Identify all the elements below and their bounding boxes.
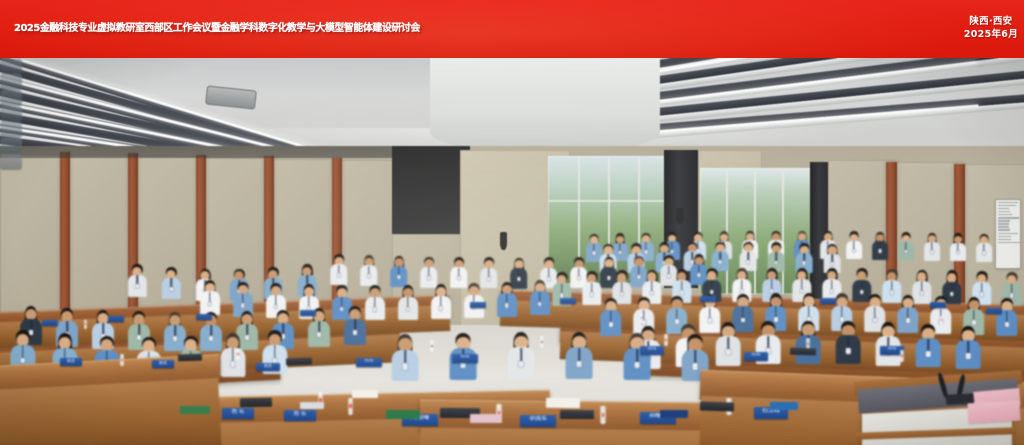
attendee-badge <box>878 249 881 253</box>
attendee-lanyard <box>637 349 639 362</box>
attendee-badge <box>846 348 850 354</box>
attendee-lanyard <box>775 306 777 317</box>
attendee-badge <box>241 303 245 308</box>
attendee-lanyard <box>643 310 645 321</box>
attendee-badge <box>644 250 647 254</box>
attendee-lanyard <box>274 345 276 357</box>
laptop-6 <box>790 348 816 356</box>
notice-line-9 <box>998 229 1010 231</box>
placard-name: 姓名 <box>452 355 478 360</box>
attendee <box>836 321 861 364</box>
attendee-badge <box>367 274 370 278</box>
attendee-lanyard <box>136 275 138 284</box>
notice-line-10 <box>998 233 1018 235</box>
attendee-badge <box>972 320 976 325</box>
laptop-0 <box>240 398 272 408</box>
attendee-lanyard <box>861 280 863 290</box>
attendee-badge <box>609 322 613 327</box>
attendee-badge <box>852 249 855 253</box>
front-row-placard-3: 李国军 <box>520 415 556 427</box>
attendee-lanyard <box>30 319 32 330</box>
attendee-badge <box>650 291 654 295</box>
attendee-lanyard <box>668 266 670 275</box>
notice-line-0 <box>998 202 1018 204</box>
chair-6 <box>0 154 22 170</box>
attendee-badge <box>209 336 213 341</box>
placard-name: 姓 名 <box>222 409 254 415</box>
attendee-lanyard <box>1006 311 1008 322</box>
attendee <box>872 232 888 260</box>
attendee-lanyard <box>981 283 983 293</box>
attendee-lanyard <box>879 241 881 249</box>
attendee-badge <box>607 276 610 280</box>
attendee <box>330 254 348 285</box>
notice-line-7 <box>998 223 1009 225</box>
attendee-lanyard <box>209 292 211 302</box>
screenshot-root: 2025金融科技专业虚拟教研室西部区工作会议暨金融学科数字化教学与大模型智能体建… <box>0 0 1024 445</box>
attendee-badge <box>245 335 249 340</box>
attendee-lanyard <box>853 241 855 249</box>
attendee-badge <box>427 276 430 280</box>
chair-0 <box>0 58 22 74</box>
attendee-lanyard <box>742 307 744 318</box>
chair-4 <box>0 122 22 138</box>
rear-placard-4 <box>470 302 486 308</box>
attendee <box>162 267 180 299</box>
attendee-lanyard <box>374 297 376 307</box>
placard-name: 姓名 <box>356 359 382 364</box>
attendee-badge <box>719 260 722 264</box>
attendee-lanyard <box>983 244 985 252</box>
attendee-lanyard <box>275 295 277 305</box>
attendee-lanyard <box>832 254 834 262</box>
attendee <box>582 271 601 305</box>
attendee-lanyard <box>548 268 550 277</box>
window-transom <box>548 200 666 202</box>
notice-line-3 <box>998 211 1010 213</box>
attendee <box>390 256 408 287</box>
notice-line-4 <box>998 214 1012 216</box>
attendee-lanyard <box>973 310 975 321</box>
front-row-placard-1: 姓 名 <box>284 410 316 421</box>
attendee-lanyard <box>804 253 806 261</box>
attendee-lanyard <box>518 268 520 277</box>
attendee <box>220 333 245 377</box>
attendee-lanyard <box>874 307 876 318</box>
second-row-placard-2: 姓名 <box>256 363 280 371</box>
attendee <box>360 255 378 286</box>
wall-pilaster-0 <box>60 152 70 318</box>
attendee-lanyard <box>428 267 430 276</box>
attendee-badge <box>373 307 377 312</box>
attendee-badge <box>487 277 490 281</box>
attendee-badge <box>20 358 25 364</box>
notice-line-8 <box>998 226 1009 228</box>
attendee-lanyard <box>741 280 743 290</box>
attendee-lanyard <box>354 319 356 330</box>
banner-location: 陕西·西安 <box>964 16 1018 29</box>
attendee-badge <box>317 332 321 337</box>
wall-panel-1 <box>68 155 136 313</box>
attendee-lanyard <box>242 294 244 304</box>
rear-placard-9 <box>986 308 1002 314</box>
attendee-badge <box>618 251 621 255</box>
attendee-lanyard <box>698 265 700 274</box>
attendee-lanyard <box>841 306 843 317</box>
attendee-lanyard <box>306 275 308 284</box>
attendee-lanyard <box>957 243 959 251</box>
attendee-badge <box>1005 322 1009 327</box>
water-bottle-14 <box>940 316 943 325</box>
attendee-badge <box>337 273 340 277</box>
laptop-5 <box>286 358 312 366</box>
water-bottle-12 <box>84 320 87 329</box>
attendee-lanyard <box>341 297 343 307</box>
lectern-pink-paper-2 <box>968 401 1021 424</box>
folder-grey <box>300 402 324 409</box>
event-banner: 2025金融科技专业虚拟教研室西部区工作会议暨金融学科数字化教学与大模型智能体建… <box>0 0 1024 58</box>
attendee-badge <box>926 351 930 357</box>
attendee-lanyard <box>506 294 508 304</box>
attendee-badge <box>173 336 177 341</box>
attendee <box>420 257 438 288</box>
second-row-placard-4: 姓名 <box>452 354 478 363</box>
attendee-badge <box>726 349 730 355</box>
banner-meta: 陕西·西安 2025年6月 <box>964 16 1018 42</box>
scene-layer: 姓 名姓 名刘晓曙李国军郑耀东石玉峰姓名姓名姓名姓名姓名姓名姓名姓名 <box>0 58 1024 170</box>
attendee-lanyard <box>651 281 653 291</box>
notice-line-5 <box>998 217 1019 219</box>
placard-name: 姓名 <box>152 361 174 365</box>
attendee-lanyard <box>808 306 810 317</box>
attendee-badge <box>560 293 564 297</box>
attendee-lanyard <box>591 283 593 293</box>
attendee-badge <box>708 318 712 323</box>
attendee-lanyard <box>1011 284 1013 294</box>
attendee-badge <box>403 363 408 369</box>
attendee-lanyard <box>608 267 610 276</box>
water-bottle-3 <box>600 406 606 424</box>
attendee-badge <box>966 353 970 359</box>
rear-placard-5 <box>560 298 576 304</box>
attendee-badge <box>577 276 580 280</box>
attendee <box>956 326 981 369</box>
attendee-badge <box>517 277 520 281</box>
water-bottle-1 <box>348 398 353 415</box>
attendee-lanyard <box>579 348 581 361</box>
attendee-lanyard <box>771 279 773 289</box>
attendee <box>624 333 651 380</box>
attendee <box>846 231 862 259</box>
attendee <box>716 322 741 365</box>
attendee-badge <box>906 318 910 323</box>
attendee-badge <box>406 307 410 312</box>
attendee-badge <box>860 290 864 294</box>
attendee-lanyard <box>170 278 172 287</box>
placard-name: 李国军 <box>520 416 556 423</box>
attendee-lanyard <box>521 348 523 361</box>
chair-1 <box>0 74 22 90</box>
attendee-badge <box>667 274 670 278</box>
attendee-lanyard <box>578 268 580 277</box>
attendee-badge <box>831 262 834 266</box>
attendee-lanyard <box>921 281 923 291</box>
attendee-lanyard <box>681 281 683 291</box>
attendee <box>344 306 366 345</box>
attendee-badge <box>904 250 907 254</box>
attendee-badge <box>208 302 212 307</box>
attendee <box>916 324 941 367</box>
attendee-lanyard <box>338 265 340 274</box>
water-bottle-6 <box>430 340 434 352</box>
water-bottle-7 <box>540 336 544 348</box>
attendee-lanyard <box>848 336 850 348</box>
attendee-lanyard <box>561 284 563 294</box>
attendee-lanyard <box>539 292 541 302</box>
attendee-badge <box>775 261 778 265</box>
banner-title: 2025金融科技专业虚拟教研室西部区工作会议暨金融学科数字化教学与大模型智能体建… <box>14 24 966 34</box>
placard-name: 姓名 <box>744 353 768 358</box>
attendee-lanyard <box>66 321 68 332</box>
rear-placard-7 <box>820 298 836 304</box>
attendee-badge <box>982 251 985 255</box>
chair-2 <box>0 90 22 106</box>
attendee-badge <box>519 361 524 367</box>
water-bottle-10 <box>120 354 124 366</box>
attendee-badge <box>538 302 542 307</box>
rear-placard-1 <box>108 316 124 322</box>
attendee-badge <box>697 273 700 277</box>
laptop-4 <box>178 354 202 362</box>
attendee-lanyard <box>801 279 803 289</box>
attendee-badge <box>747 260 750 264</box>
attendee-lanyard <box>931 242 933 250</box>
attendee-badge <box>956 251 959 255</box>
folder-green-center <box>386 410 420 419</box>
attendee <box>600 298 622 336</box>
attendee <box>365 285 385 320</box>
attendee-lanyard <box>905 242 907 250</box>
attendee-badge <box>680 290 684 294</box>
wall-sconce-right <box>676 208 684 224</box>
attendee <box>128 264 146 296</box>
attendee-lanyard <box>174 325 176 336</box>
front-row-placard-0: 姓 名 <box>222 408 254 419</box>
water-bottle-8 <box>664 334 668 346</box>
attendee-lanyard <box>368 266 370 275</box>
attendee-badge <box>890 290 894 294</box>
folder-blue-far-right <box>770 402 798 410</box>
attendee-lanyard <box>720 252 722 260</box>
placard-name: 姓名 <box>640 347 664 352</box>
chair-3 <box>0 106 22 122</box>
attendee-badge <box>803 261 806 265</box>
attendee-lanyard <box>593 244 595 252</box>
attendee <box>712 242 729 271</box>
attendee-badge <box>920 291 924 295</box>
attendee-lanyard <box>210 325 212 336</box>
second-row-placard-3: 姓名 <box>356 358 382 367</box>
attendee-lanyard <box>638 266 640 275</box>
attendee-lanyard <box>308 296 310 306</box>
attendee-badge <box>693 363 698 369</box>
attendee-lanyard <box>768 336 770 348</box>
attendee-badge <box>930 250 933 254</box>
attendee-lanyard <box>138 324 140 335</box>
attendee-lanyard <box>610 311 612 322</box>
rear-placard-0 <box>42 320 58 326</box>
notice-line-12 <box>998 239 1011 241</box>
attendee-lanyard <box>695 350 697 363</box>
paper-stack-left <box>352 390 378 398</box>
attendee <box>950 233 966 261</box>
water-bottle-11 <box>900 350 904 362</box>
attendee-lanyard <box>102 323 104 334</box>
attendee-badge <box>274 305 278 310</box>
attendee-lanyard <box>928 339 930 351</box>
attendee-badge <box>1010 293 1014 297</box>
attendee-badge <box>397 275 400 279</box>
rear-placard-8 <box>930 302 946 308</box>
attendee-badge <box>353 330 357 335</box>
attendee <box>392 334 419 381</box>
attendee-lanyard <box>621 282 623 292</box>
wall-notice-board <box>996 200 1020 268</box>
attendee-lanyard <box>776 252 778 260</box>
attendee-badge <box>577 361 582 367</box>
attendee-badge <box>637 275 640 279</box>
attendee-lanyard <box>728 337 730 349</box>
attendee <box>996 298 1018 336</box>
chair-5 <box>0 138 22 154</box>
notice-line-13 <box>998 242 1020 244</box>
attendee <box>876 322 901 365</box>
attendee-lanyard <box>318 321 320 332</box>
attendee-lanyard <box>891 281 893 291</box>
attendee-badge <box>710 290 714 294</box>
second-row-placard-0: 姓名 <box>60 358 82 366</box>
paper-stack-center <box>546 398 580 409</box>
notice-line-2 <box>998 208 1009 210</box>
attendee-badge <box>635 362 640 368</box>
placard-name: 姓名 <box>256 364 280 368</box>
attendee <box>200 280 220 315</box>
notice-line-11 <box>998 236 1011 238</box>
attendee <box>497 282 517 317</box>
rear-placard-6 <box>700 296 716 302</box>
attendee-lanyard <box>748 252 750 260</box>
attendee-lanyard <box>709 308 711 319</box>
attendee-lanyard <box>22 345 24 357</box>
banner-date: 2025年6月 <box>964 29 1018 42</box>
attendee-badge <box>457 276 460 280</box>
placard-name: 姓名 <box>60 359 82 363</box>
attendee-lanyard <box>407 297 409 307</box>
attendee-lanyard <box>398 266 400 275</box>
folder-blue-right <box>660 410 688 418</box>
attendee-badge <box>439 306 443 311</box>
placard-name: 姓 名 <box>284 411 316 417</box>
attendee <box>898 232 914 260</box>
attendee-lanyard <box>440 296 442 306</box>
attendee <box>398 285 418 320</box>
attendee <box>976 234 992 262</box>
attendee-lanyard <box>968 341 970 353</box>
attendee <box>924 233 940 261</box>
attendee-badge <box>592 251 595 255</box>
attendee-lanyard <box>907 308 909 319</box>
water-bottle-5 <box>236 348 240 360</box>
attendee <box>508 332 535 379</box>
attendee <box>431 284 451 319</box>
attendee <box>566 332 593 379</box>
conference-group-photo: 姓 名姓 名刘晓曙李国军郑耀东石玉峰姓名姓名姓名姓名姓名姓名姓名姓名 <box>0 58 1024 445</box>
attendee-lanyard <box>831 280 833 290</box>
attendee-badge <box>741 318 745 323</box>
attendee-lanyard <box>676 309 678 320</box>
attendee-badge <box>505 303 509 308</box>
attendee <box>530 280 550 315</box>
attendee-lanyard <box>246 324 248 335</box>
attendee <box>464 283 484 318</box>
attendee-lanyard <box>405 350 407 363</box>
second-row-placard-1: 姓名 <box>152 360 174 368</box>
water-bottle-13 <box>640 314 643 323</box>
attendee-lanyard <box>645 242 647 250</box>
laptop-3 <box>700 401 734 411</box>
rear-placard-2 <box>196 314 212 320</box>
attendee-badge <box>590 292 594 296</box>
notice-line-6 <box>998 220 1010 222</box>
rear-placard-3 <box>300 310 316 316</box>
attendee-lanyard <box>619 243 621 251</box>
laptop-2 <box>560 410 594 419</box>
second-row-placard-6: 姓名 <box>744 352 768 361</box>
attendee-lanyard <box>458 268 460 277</box>
second-row-placard-5: 姓名 <box>640 346 664 355</box>
wall-sconce-center <box>500 232 507 250</box>
folder-pink-center <box>470 414 502 423</box>
attendee-lanyard <box>711 280 713 290</box>
notice-line-1 <box>998 205 1016 207</box>
attendee-lanyard <box>232 348 234 360</box>
attendee <box>740 242 757 271</box>
attendee-lanyard <box>488 268 490 277</box>
folder-green-left <box>180 406 210 414</box>
attendee-badge <box>230 361 235 367</box>
attendee-badge <box>620 292 624 296</box>
attendee-lanyard <box>951 282 953 292</box>
wall-panel-0 <box>0 154 68 314</box>
